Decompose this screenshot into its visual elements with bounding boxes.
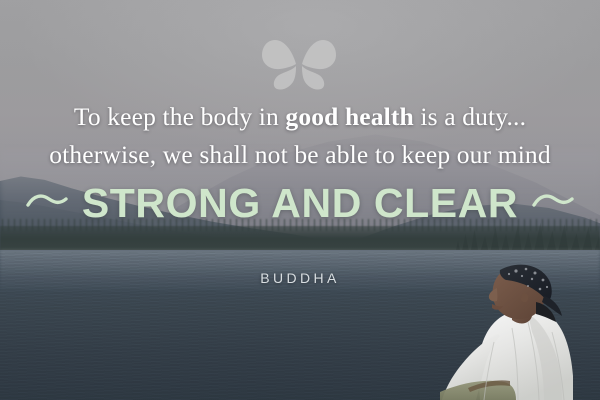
attribution-author: BUDDHA [0, 270, 600, 286]
quote-body: To keep the body in good health is a dut… [0, 98, 600, 174]
headline-text: STRONG AND CLEAR [82, 182, 518, 224]
tilde-swash-left-icon [26, 192, 68, 214]
quote-line-1-prefix: To keep the body in [74, 102, 286, 131]
quote-emphasis: good health [285, 102, 413, 131]
quote-card: To keep the body in good health is a dut… [0, 0, 600, 400]
quote-line-1-suffix: is a duty... [414, 102, 526, 131]
butterfly-icon [262, 38, 336, 90]
headline-row: STRONG AND CLEAR [0, 182, 600, 224]
quote-line-2: otherwise, we shall not be able to keep … [0, 136, 600, 174]
quote-line-1: To keep the body in good health is a dut… [0, 98, 600, 136]
tilde-swash-right-icon [532, 192, 574, 214]
